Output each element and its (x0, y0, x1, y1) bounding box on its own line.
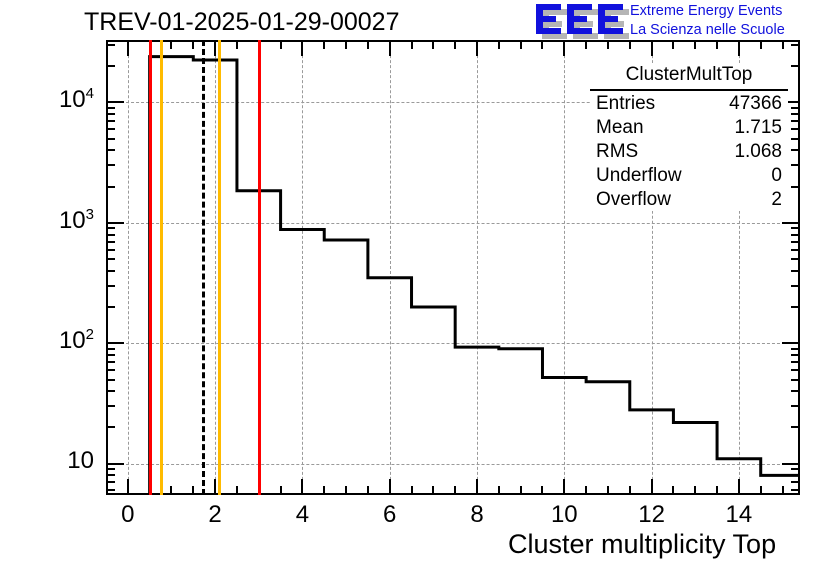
y-tick-label: 102 (0, 326, 94, 355)
x-tick-label: 8 (447, 501, 507, 529)
stats-row: Underflow0 (590, 163, 788, 187)
stats-row-key: Entries (596, 93, 655, 114)
y-tick-label: 10 (0, 447, 94, 475)
root-canvas: TREV-01-2025-01-29-00027 Extreme Energy … (0, 0, 836, 572)
stats-row: RMS1.068 (590, 139, 788, 163)
stats-row-value: 1.068 (734, 141, 782, 162)
stats-row: Mean1.715 (590, 115, 788, 139)
y-tick-label: 104 (0, 85, 94, 114)
x-tick-label: 4 (272, 501, 332, 529)
stats-row-value: 47366 (729, 93, 782, 114)
x-tick-label: 2 (185, 501, 245, 529)
stats-box: ClusterMultTop Entries47366Mean1.715RMS1… (590, 63, 788, 211)
x-tick-label: 6 (360, 501, 420, 529)
y-tick-label: 103 (0, 206, 94, 235)
stats-row: Overflow2 (590, 187, 788, 211)
stats-row-key: RMS (596, 141, 638, 162)
x-tick-label: 0 (98, 501, 158, 529)
stats-row-key: Mean (596, 117, 644, 138)
stats-row-key: Overflow (596, 189, 671, 210)
stats-box-rows: Entries47366Mean1.715RMS1.068Underflow0O… (590, 91, 788, 211)
stats-row-key: Underflow (596, 165, 682, 186)
x-tick-label: 12 (622, 501, 682, 529)
x-tick-label: 14 (709, 501, 769, 529)
x-axis-title: Cluster multiplicity Top (508, 529, 776, 560)
stats-row-value: 2 (771, 189, 782, 210)
stats-box-title: ClusterMultTop (590, 63, 788, 91)
stats-row: Entries47366 (590, 91, 788, 115)
x-tick-label: 10 (534, 501, 594, 529)
stats-row-value: 0 (771, 165, 782, 186)
stats-row-value: 1.715 (734, 117, 782, 138)
